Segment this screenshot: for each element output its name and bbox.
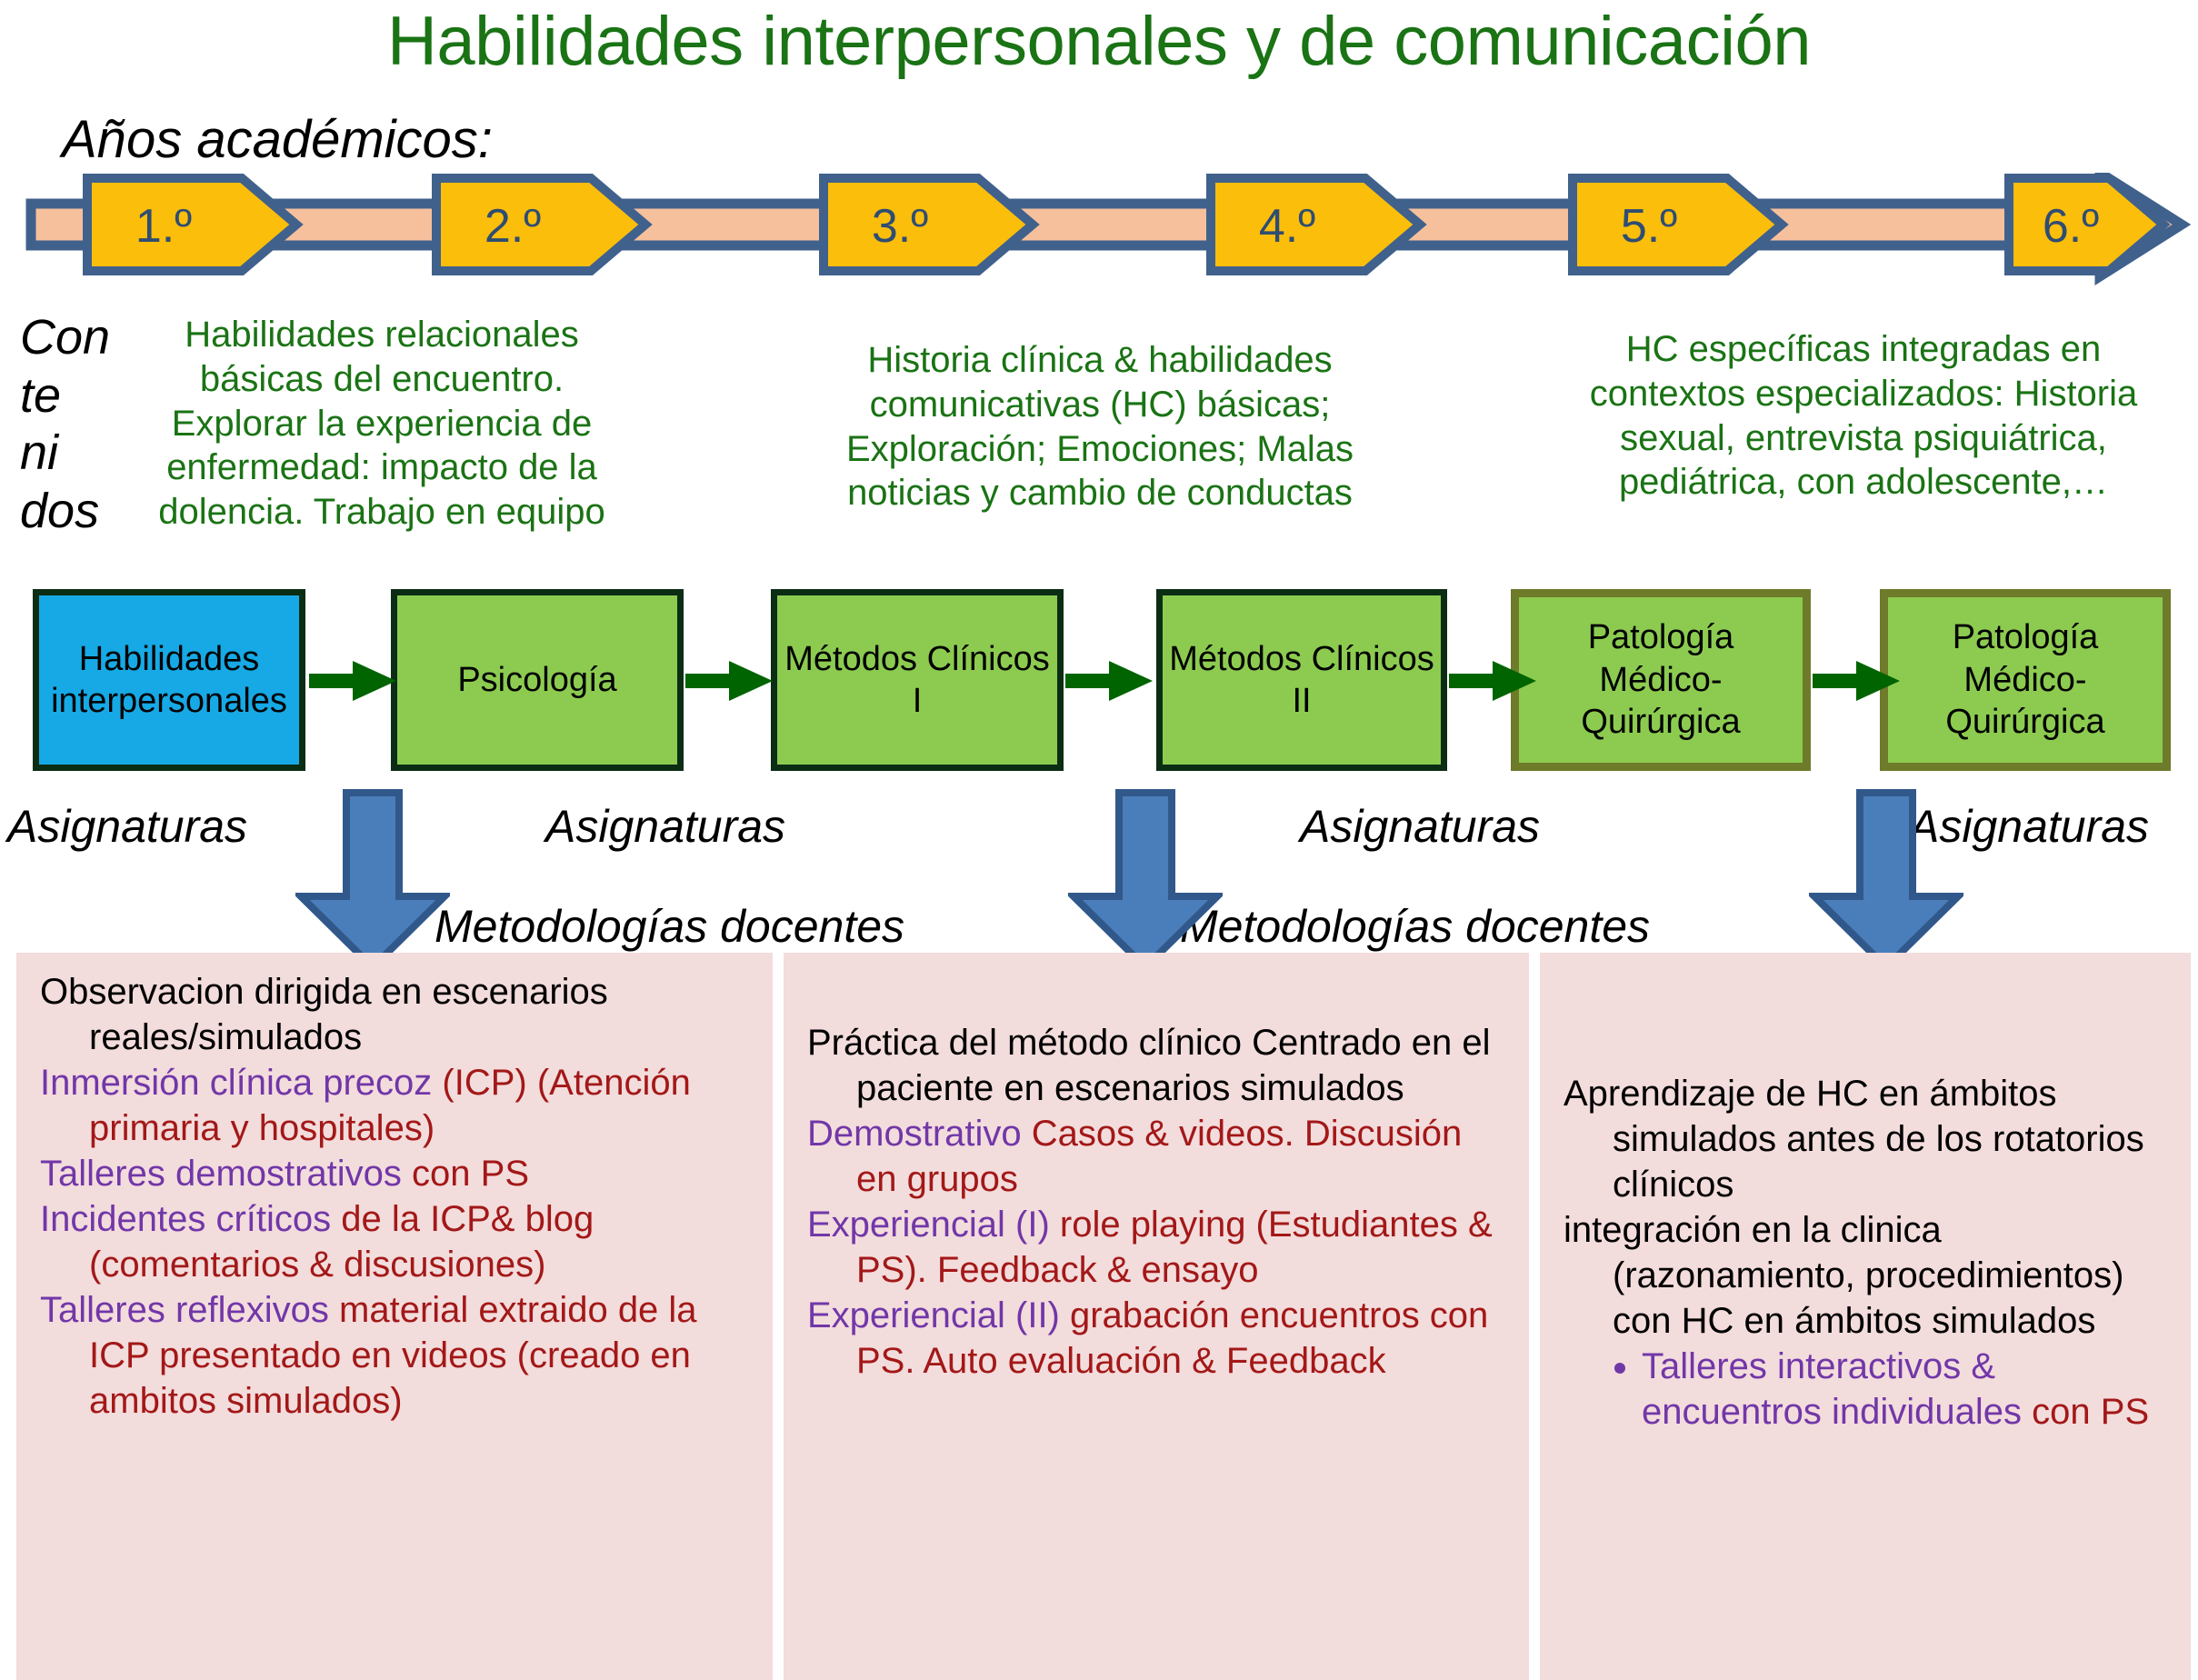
methodology-line: Experiencial (I) role playing (Estudiant… xyxy=(807,1202,1505,1293)
methodology-text-segment: Inmersión clínica precoz xyxy=(40,1063,442,1103)
methodology-text-segment: Incidentes críticos xyxy=(40,1199,341,1239)
spacer xyxy=(1564,1020,2167,1071)
page-title: Habilidades interpersonales y de comunic… xyxy=(0,2,2198,81)
subject-box-habilidades-interpersonales[interactable]: Habilidades interpersonales xyxy=(33,589,305,771)
methodology-text-segment: con PS xyxy=(412,1154,529,1194)
methodology-panel-1: Observacion dirigida en escenarios reale… xyxy=(16,953,773,1680)
content-blurb-years-5-6: HC específicas integradas en contextos e… xyxy=(1545,327,2182,505)
methodology-line: Incidentes críticos de la ICP& blog (com… xyxy=(40,1196,749,1287)
arrow-right-icon xyxy=(1065,661,1153,701)
methodology-text-segment: Talleres reflexivos xyxy=(40,1290,339,1330)
arrow-down-icon xyxy=(295,789,450,971)
methodology-line: Práctica del método clínico Centrado en … xyxy=(807,1020,1505,1111)
spacer xyxy=(1564,969,2167,1020)
methodology-lines-1: Observacion dirigida en escenarios reale… xyxy=(40,969,749,1424)
methodology-line: Talleres reflexivos material extraido de… xyxy=(40,1287,749,1424)
methodology-line: Talleres demostrativos con PS xyxy=(40,1151,749,1196)
asignaturas-label: Asignaturas xyxy=(545,800,785,853)
subject-box-metodos-clinicos-ii[interactable]: Métodos Clínicos II xyxy=(1156,589,1447,771)
academic-years-timeline: 1.º 2.º 3.º 4.º 5.º 6.º xyxy=(0,173,2198,300)
methodology-line: Observacion dirigida en escenarios reale… xyxy=(40,969,749,1060)
timeline-arrow-shape xyxy=(31,173,2182,276)
arrow-right-icon xyxy=(309,661,396,701)
timeline-chevron-3: 3.º xyxy=(824,178,1033,271)
arrow-right-icon xyxy=(1813,661,1900,701)
timeline-chevron-4: 4.º xyxy=(1211,178,1420,271)
chevron-label-4: 4.º xyxy=(1259,200,1315,253)
methodology-text-segment: Talleres interactivos & encuentros indiv… xyxy=(1642,1346,2032,1432)
metodologias-docentes-label: Metodologías docentes xyxy=(1180,900,1650,953)
methodology-line: Inmersión clínica precoz (ICP) (Atención… xyxy=(40,1060,749,1151)
arrow-right-icon xyxy=(685,661,773,701)
methodology-text-segment: integración en la clinica (razonamiento,… xyxy=(1564,1210,2123,1341)
arrow-right-icon xyxy=(1449,661,1536,701)
academic-years-label: Años académicos: xyxy=(62,109,493,170)
methodology-bullets-3: Talleres interactivos & encuentros indiv… xyxy=(1564,1344,2167,1435)
methodology-text-segment: Práctica del método clínico Centrado en … xyxy=(807,1023,1491,1108)
subject-box-patologia-medico-quirurgica-1[interactable]: Patología Médico-Quirúrgica xyxy=(1511,589,1811,771)
methodology-panel-3: Aprendizaje de HC en ámbitos simulados a… xyxy=(1540,953,2191,1680)
timeline-chevron-1: 1.º xyxy=(87,178,296,271)
chevron-label-5: 5.º xyxy=(1621,200,1677,253)
methodology-line: Aprendizaje de HC en ámbitos simulados a… xyxy=(1564,1071,2167,1207)
asignaturas-label: Asignaturas xyxy=(7,800,247,853)
subject-box-patologia-medico-quirurgica-2[interactable]: Patología Médico-Quirúrgica xyxy=(1880,589,2171,771)
methodology-lines-2: Práctica del método clínico Centrado en … xyxy=(807,1020,1505,1384)
methodology-text-segment: con PS xyxy=(2032,1392,2149,1432)
methodology-text-segment: Demostrativo xyxy=(807,1114,1032,1154)
chevron-label-2: 2.º xyxy=(485,200,541,253)
chevron-label-3: 3.º xyxy=(872,200,928,253)
methodology-text-segment: Experiencial (I) xyxy=(807,1205,1060,1245)
methodology-text-segment: Aprendizaje de HC en ámbitos simulados a… xyxy=(1564,1074,2144,1205)
slide-canvas: Habilidades interpersonales y de comunic… xyxy=(0,0,2198,1680)
methodology-panel-2: Práctica del método clínico Centrado en … xyxy=(784,953,1529,1680)
methodology-line: Experiencial (II) grabación encuentros c… xyxy=(807,1293,1505,1384)
arrow-down-icon xyxy=(1068,789,1223,971)
methodology-line: integración en la clinica (razonamiento,… xyxy=(1564,1207,2167,1344)
content-blurb-years-3-4: Historia clínica & habilidades comunicat… xyxy=(800,338,1400,515)
methodology-text-segment: Observacion dirigida en escenarios reale… xyxy=(40,972,608,1057)
methodology-text-segment: Experiencial (II) xyxy=(807,1295,1070,1335)
methodology-lines-3: Aprendizaje de HC en ámbitos simulados a… xyxy=(1564,1071,2167,1344)
methodology-line: Demostrativo Casos & videos. Discusión e… xyxy=(807,1111,1505,1202)
spacer xyxy=(807,969,1505,1020)
content-blurb-years-1-2: Habilidades relacionales básicas del enc… xyxy=(127,313,636,535)
arrow-down-icon xyxy=(1809,789,1963,971)
timeline-chevron-6: 6.º xyxy=(2009,178,2163,271)
timeline-chevron-5: 5.º xyxy=(1573,178,1782,271)
subject-box-metodos-clinicos-i[interactable]: Métodos Clínicos I xyxy=(771,589,1064,771)
asignaturas-label: Asignaturas xyxy=(1300,800,1540,853)
timeline-chevron-2: 2.º xyxy=(436,178,645,271)
methodology-text-segment: Talleres demostrativos xyxy=(40,1154,412,1194)
subject-box-psicologia[interactable]: Psicología xyxy=(391,589,684,771)
metodologias-docentes-label: Metodologías docentes xyxy=(435,900,904,953)
chevron-label-1: 1.º xyxy=(135,200,192,253)
methodology-bullet: Talleres interactivos & encuentros indiv… xyxy=(1642,1344,2167,1435)
chevron-label-6: 6.º xyxy=(2043,200,2099,253)
